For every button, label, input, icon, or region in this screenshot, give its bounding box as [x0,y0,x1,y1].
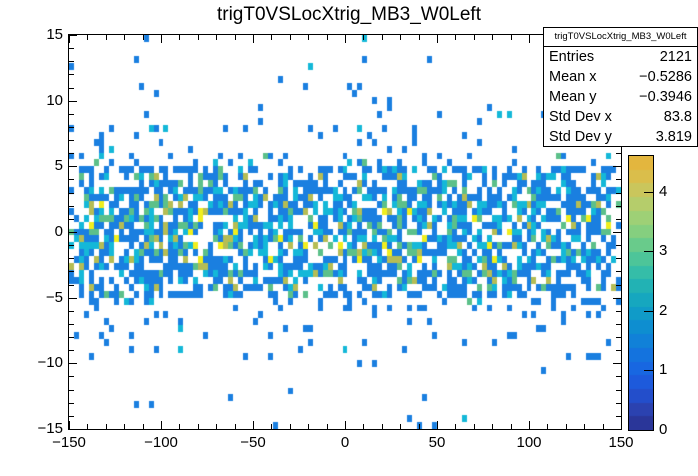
y-tick-major [69,429,77,430]
y-tick-minor [616,219,621,220]
x-tick-major [529,421,530,429]
x-tick-minor [308,424,309,429]
x-tick-minor [308,35,309,40]
y-tick-minor [69,390,74,391]
y-tick-minor [616,390,621,391]
y-tick-minor [616,403,621,404]
x-tick-label: −50 [223,434,283,451]
x-tick-minor [124,35,125,40]
color-bar-tick [644,430,653,431]
y-tick-minor [616,337,621,338]
x-tick-minor [382,35,383,40]
x-tick-minor [492,424,493,429]
y-tick-minor [616,311,621,312]
y-tick-major [69,101,77,102]
y-tick-minor [616,179,621,180]
x-tick-minor [455,424,456,429]
color-bar-tick [644,370,653,371]
x-tick-minor [511,35,512,40]
x-tick-minor [235,35,236,40]
y-tick-minor [69,416,74,417]
stats-key: Std Dev x [549,107,612,127]
stats-rows: Entries2121Mean x−0.5286Mean y−0.3946Std… [544,47,697,147]
y-tick-minor [69,311,74,312]
y-tick-major [613,363,621,364]
y-tick-minor [616,350,621,351]
y-tick-label: 5 [17,157,63,174]
y-tick-minor [69,271,74,272]
y-tick-major [69,298,77,299]
y-tick-minor [69,285,74,286]
y-tick-minor [69,403,74,404]
stats-key: Mean y [549,87,597,107]
x-tick-major [253,421,254,429]
x-tick-minor [511,424,512,429]
x-tick-major [69,35,70,43]
x-tick-minor [271,35,272,40]
x-tick-minor [400,424,401,429]
y-tick-label: −10 [17,354,63,371]
x-tick-minor [179,35,180,40]
color-bar-tick [644,251,653,252]
x-tick-major [345,421,346,429]
stats-value: −0.3946 [639,87,692,107]
y-tick-minor [69,74,74,75]
y-tick-minor [69,48,74,49]
y-tick-major [613,429,621,430]
stats-row: Entries2121 [544,47,697,67]
color-bar-tick [644,311,653,312]
color-bar-label: 0 [659,421,689,438]
y-tick-minor [69,153,74,154]
x-tick-minor [455,35,456,40]
y-tick-minor [616,245,621,246]
stats-row: Std Dev y3.819 [544,127,697,147]
stats-key: Entries [549,47,594,67]
y-tick-minor [616,376,621,377]
color-bar [628,155,654,431]
y-tick-label: 0 [17,223,63,240]
y-tick-minor [616,193,621,194]
x-tick-minor [547,424,548,429]
y-tick-label: 10 [17,92,63,109]
histogram-cells [69,35,621,429]
x-tick-minor [382,424,383,429]
y-tick-minor [69,179,74,180]
x-tick-minor [327,35,328,40]
y-tick-major [69,35,77,36]
x-tick-minor [419,424,420,429]
y-tick-minor [616,324,621,325]
color-bar-gradient [629,156,653,430]
y-tick-minor [69,350,74,351]
x-tick-label: 150 [591,434,651,451]
x-tick-minor [235,424,236,429]
stats-value: 3.819 [656,127,692,147]
y-tick-minor [616,416,621,417]
x-tick-major [253,35,254,43]
y-tick-major [69,166,77,167]
stats-value: 83.8 [664,107,692,127]
x-tick-major [345,35,346,43]
x-tick-minor [584,424,585,429]
x-tick-major [621,421,622,429]
x-tick-minor [106,35,107,40]
stats-row: Mean x−0.5286 [544,67,697,87]
y-tick-major [69,232,77,233]
x-tick-major [161,421,162,429]
x-tick-minor [290,424,291,429]
color-bar-label: 1 [659,361,689,378]
x-tick-minor [216,35,217,40]
y-tick-minor [69,88,74,89]
y-tick-label: 15 [17,26,63,43]
x-tick-label: 50 [407,434,467,451]
chart-root: trigT0VSLocXtrig_MB3_W0Left −15−10−50510… [0,0,698,476]
x-tick-minor [143,35,144,40]
y-tick-minor [616,258,621,259]
y-tick-minor [69,127,74,128]
y-tick-label: −5 [17,289,63,306]
y-tick-minor [69,206,74,207]
x-tick-minor [474,424,475,429]
x-tick-minor [106,424,107,429]
stats-key: Mean x [549,67,597,87]
x-tick-label: 0 [315,434,375,451]
x-tick-minor [198,424,199,429]
x-tick-major [437,35,438,43]
y-tick-major [613,166,621,167]
x-tick-minor [603,424,604,429]
plot-area [68,34,622,430]
x-tick-minor [87,424,88,429]
x-tick-minor [290,35,291,40]
y-tick-minor [69,114,74,115]
y-tick-minor [69,61,74,62]
page-title: trigT0VSLocXtrig_MB3_W0Left [0,4,698,26]
x-tick-minor [327,424,328,429]
x-tick-minor [87,35,88,40]
y-tick-minor [616,285,621,286]
y-tick-minor [69,219,74,220]
stats-value: 2121 [660,47,692,67]
x-tick-minor [566,424,567,429]
color-bar-label: 3 [659,242,689,259]
y-tick-minor [616,153,621,154]
color-bar-label: 4 [659,183,689,200]
y-tick-minor [69,337,74,338]
x-tick-minor [419,35,420,40]
x-tick-major [437,421,438,429]
x-tick-label: −150 [39,434,99,451]
stats-row: Std Dev x83.8 [544,107,697,127]
x-tick-major [69,421,70,429]
x-tick-minor [492,35,493,40]
x-tick-major [161,35,162,43]
x-tick-minor [474,35,475,40]
x-tick-minor [124,424,125,429]
x-tick-label: −100 [131,434,191,451]
y-tick-minor [69,376,74,377]
color-bar-label: 2 [659,302,689,319]
stats-header: trigT0VSLocXtrig_MB3_W0Left [544,28,697,47]
y-tick-major [613,298,621,299]
y-tick-minor [616,271,621,272]
x-tick-minor [179,424,180,429]
y-tick-minor [69,258,74,259]
stats-value: −0.5286 [639,67,692,87]
x-tick-minor [198,35,199,40]
y-tick-minor [616,206,621,207]
x-tick-minor [143,424,144,429]
stats-row: Mean y−0.3946 [544,87,697,107]
y-tick-minor [69,140,74,141]
y-tick-major [613,232,621,233]
x-tick-minor [363,424,364,429]
y-tick-minor [69,324,74,325]
color-bar-tick [644,192,653,193]
y-tick-major [69,363,77,364]
y-tick-minor [69,193,74,194]
stats-key: Std Dev y [549,127,612,147]
y-tick-minor [69,245,74,246]
statistics-box: trigT0VSLocXtrig_MB3_W0Left Entries2121M… [543,27,698,147]
x-tick-major [529,35,530,43]
x-tick-minor [363,35,364,40]
x-tick-minor [400,35,401,40]
x-tick-label: 100 [499,434,559,451]
x-tick-minor [271,424,272,429]
x-tick-minor [216,424,217,429]
